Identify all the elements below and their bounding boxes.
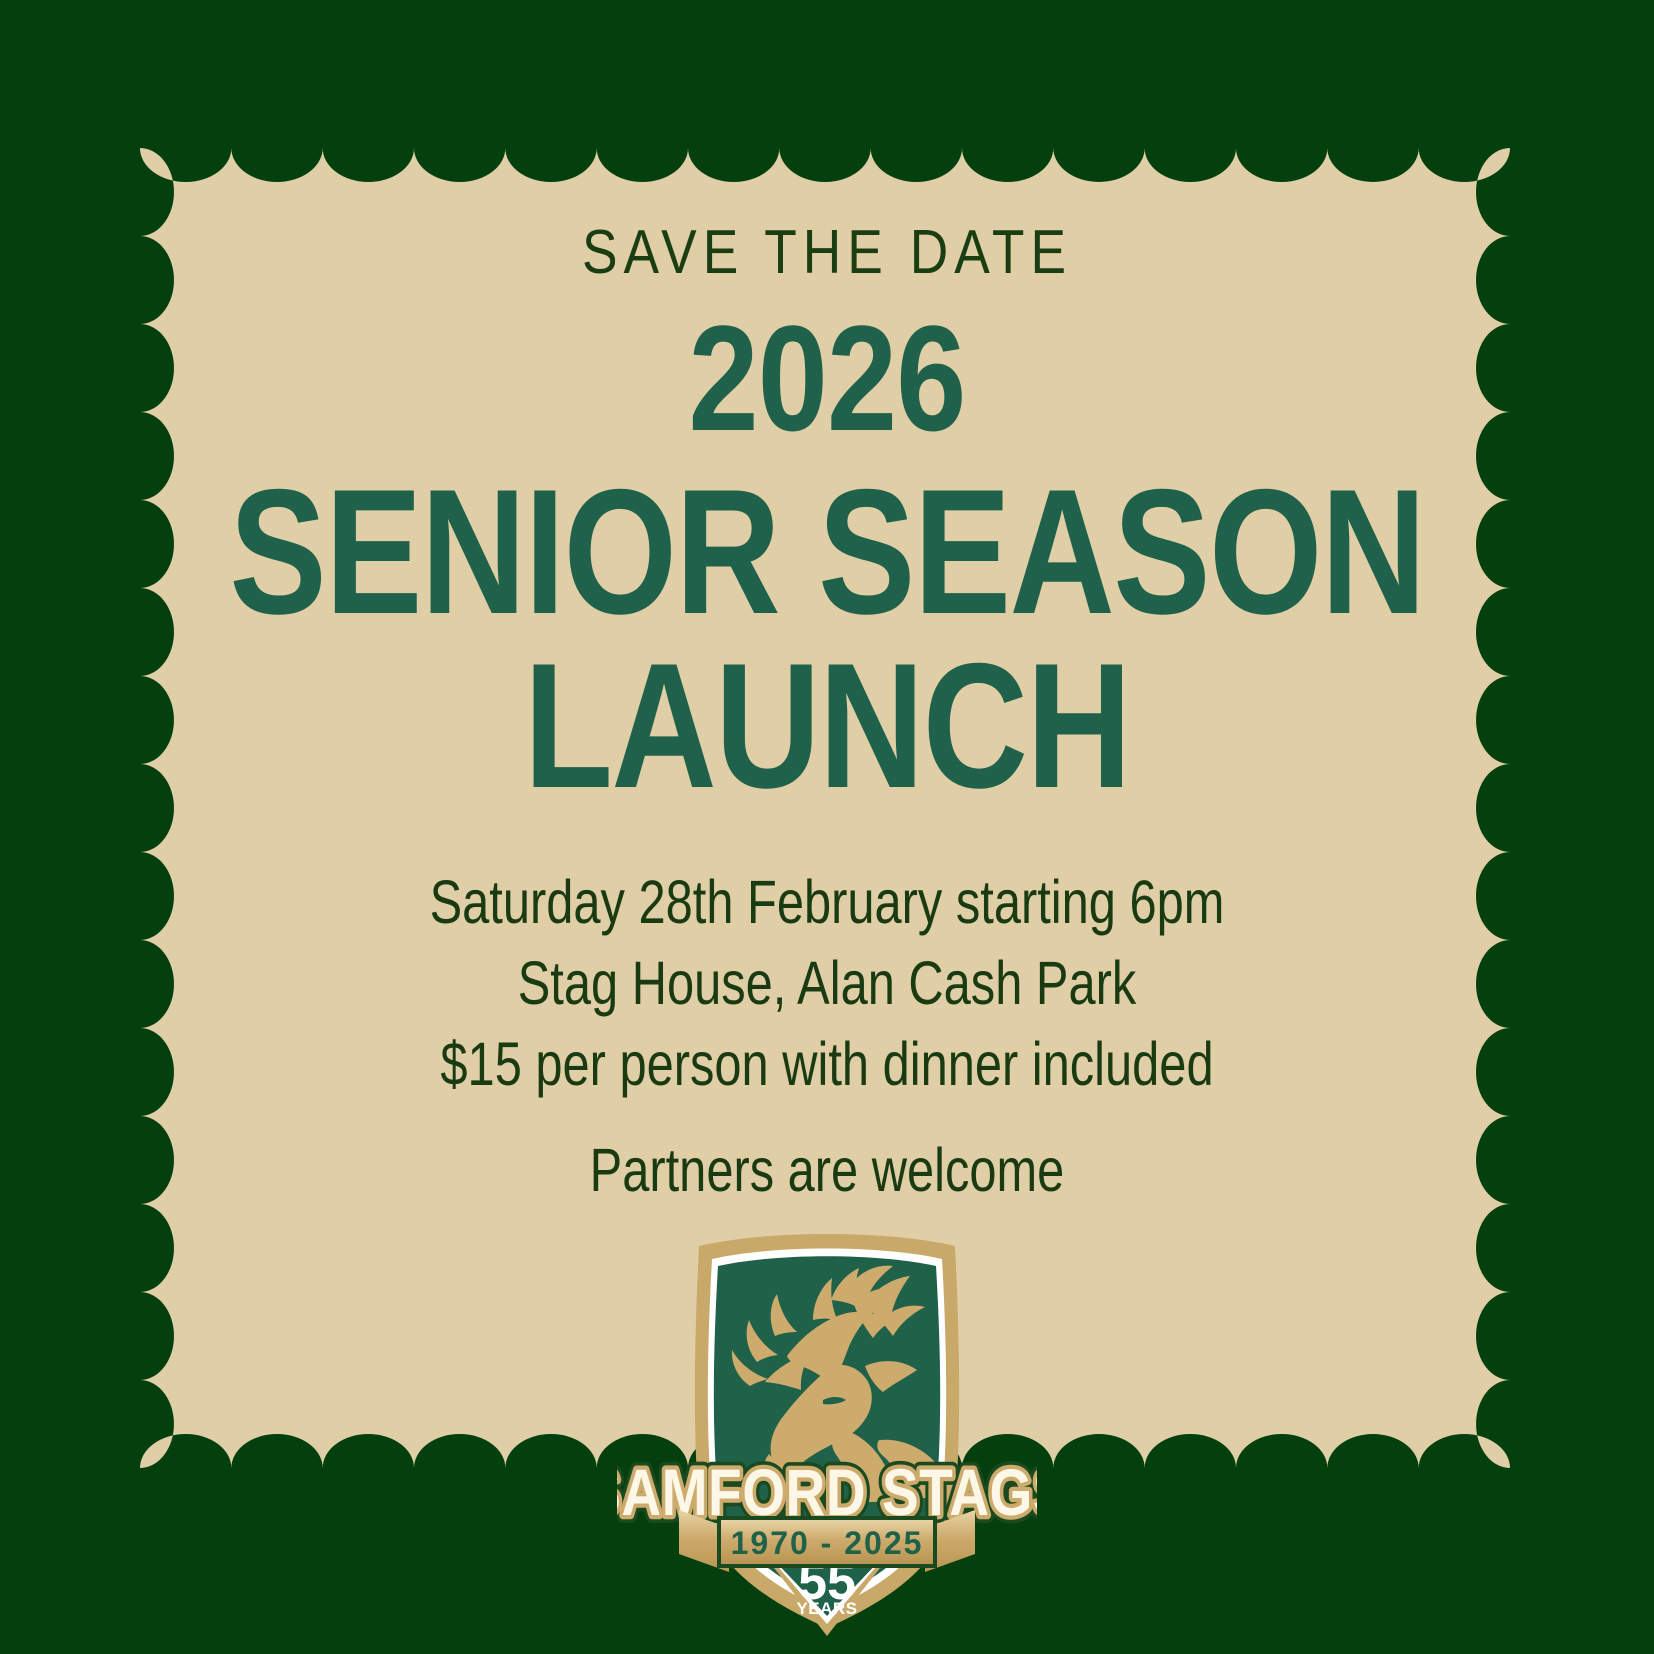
- samford-stags-logo: SAMFORD STAGS SAMFORD STAGS SAMFORD STAG…: [617, 1216, 1037, 1646]
- event-price: $15 per person with dinner included: [165, 1024, 1488, 1105]
- main-headline: SENIOR SEASON LAUNCH: [0, 465, 1654, 814]
- closing-text: Partners are welcome: [165, 1130, 1488, 1211]
- year-heading: 2026: [132, 300, 1521, 458]
- headline-line-2: LAUNCH: [149, 639, 1505, 813]
- closing-note: Partners are welcome: [0, 1130, 1654, 1211]
- headline-line-1: SENIOR SEASON: [149, 465, 1505, 639]
- eyebrow-text: SAVE THE DATE: [116, 222, 1538, 284]
- event-datetime: Saturday 28th February starting 6pm: [165, 862, 1488, 943]
- poster-content: SAVE THE DATE 2026 SENIOR SEASON LAUNCH …: [0, 0, 1654, 1654]
- event-venue: Stag House, Alan Cash Park: [165, 943, 1488, 1024]
- event-details: Saturday 28th February starting 6pm Stag…: [0, 862, 1654, 1105]
- svg-text:YEARS: YEARS: [796, 1599, 857, 1618]
- poster: SAVE THE DATE 2026 SENIOR SEASON LAUNCH …: [0, 0, 1654, 1654]
- svg-text:1970 - 2025: 1970 - 2025: [731, 1525, 924, 1561]
